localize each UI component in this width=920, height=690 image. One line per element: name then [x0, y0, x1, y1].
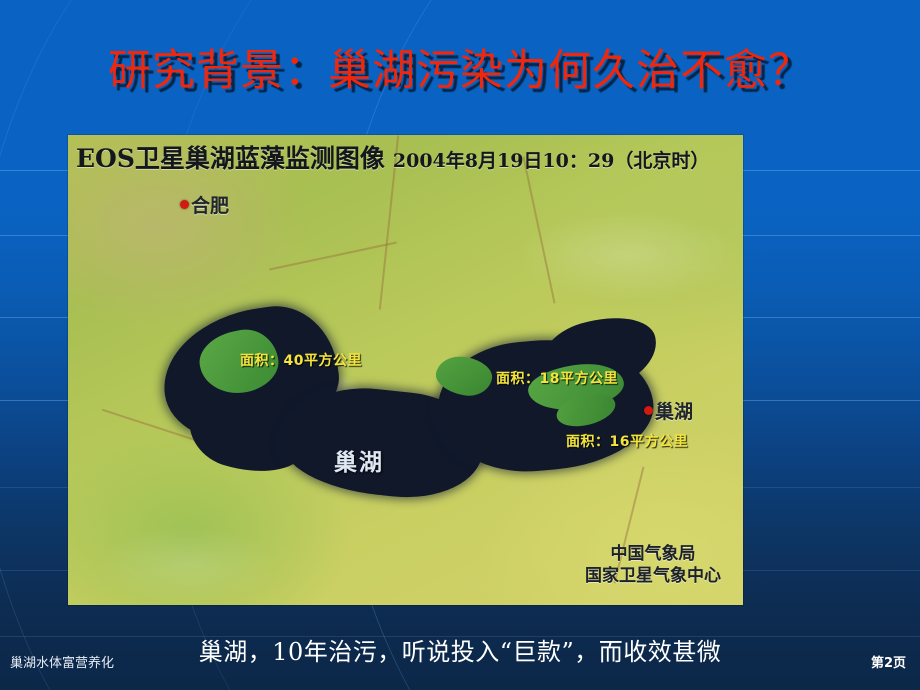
presentation-slide: 研究背景：巢湖污染为何久治不愈？ EOS卫星巢湖蓝藻监测图像 2004年8月19… [0, 0, 920, 690]
page-number-indicator: 第2页 [871, 655, 906, 673]
slide-title: 研究背景：巢湖污染为何久治不愈？ [0, 44, 920, 98]
terrain-trace [522, 156, 555, 303]
credit-line-agency: 中国气象局 [585, 543, 721, 565]
city-label: 巢湖 [655, 397, 693, 424]
satellite-image-header: EOS卫星巢湖蓝藻监测图像 2004年8月19日10：29（北京时） [76, 139, 709, 175]
credit-line-center: 国家卫星气象中心 [585, 565, 721, 587]
terrain-trace [269, 242, 397, 271]
city-label: 合肥 [191, 191, 229, 218]
satellite-image-credit: 中国气象局 国家卫星气象中心 [585, 543, 721, 587]
map-pin-icon [644, 406, 653, 415]
satellite-header-timestamp: 2004年8月19日10：29（北京时） [393, 146, 709, 173]
bloom-area-label-east: 面积：16平方公里 [566, 431, 688, 451]
footer-subject-label: 巢湖水体富营养化 [10, 655, 114, 673]
satellite-image: EOS卫星巢湖蓝藻监测图像 2004年8月19日10：29（北京时） 合肥 巢湖… [68, 135, 743, 605]
city-marker-chaohu: 巢湖 [644, 397, 693, 424]
slide-caption: 巢湖，10年治污，听说投入“巨款”，而收效甚微 [0, 636, 920, 668]
map-pin-icon [180, 200, 189, 209]
lake-name-label: 巢湖 [334, 443, 384, 477]
bloom-area-label-west: 面积：40平方公里 [240, 350, 362, 370]
satellite-header-title: EOS卫星巢湖蓝藻监测图像 [76, 139, 385, 175]
city-marker-hefei: 合肥 [180, 191, 229, 218]
bloom-area-label-central: 面积：18平方公里 [496, 368, 618, 388]
